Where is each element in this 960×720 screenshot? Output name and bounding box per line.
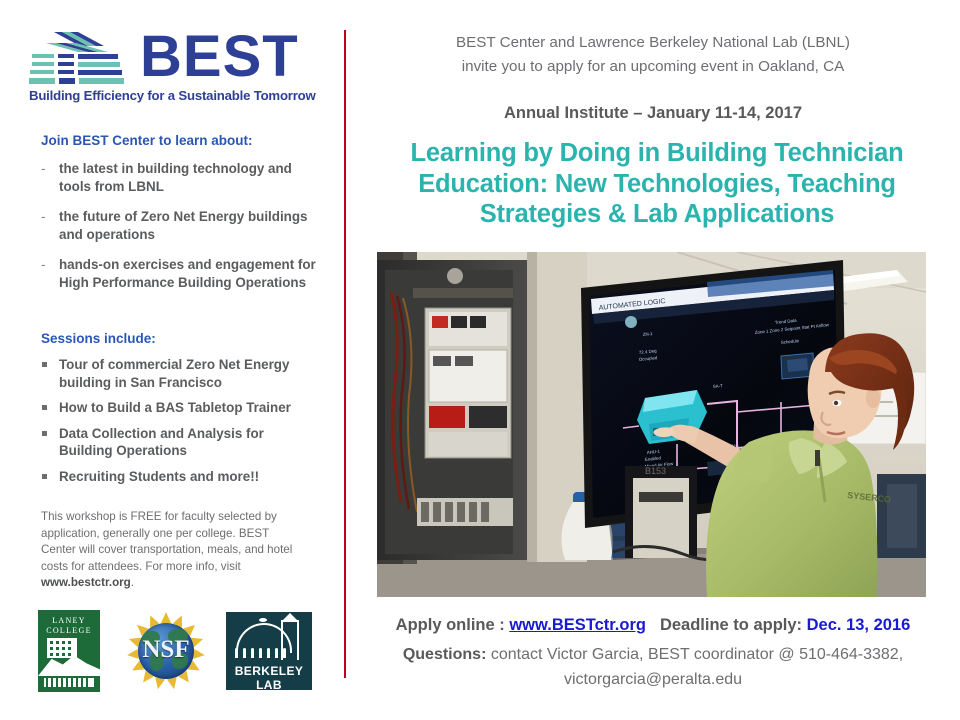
questions-label: Questions: xyxy=(403,646,487,663)
title-line-1: Learning by Doing in Building Technician xyxy=(368,138,946,169)
square-bullet-icon xyxy=(42,431,47,436)
list-item: Tour of commercial Zero Net Energy build… xyxy=(41,356,321,391)
nsf-logo: NSF xyxy=(127,612,205,690)
list-item-label: Tour of commercial Zero Net Energy build… xyxy=(59,357,289,390)
laney-line2: COLLEGE xyxy=(46,626,92,635)
best-tagline: Building Efficiency for a Sustainable To… xyxy=(29,88,316,103)
list-item-label: hands-on exercises and engagement for Hi… xyxy=(59,257,316,290)
fineprint-text: This workshop is FREE for faculty select… xyxy=(41,510,292,573)
sessions-list: Tour of commercial Zero Net Energy build… xyxy=(41,356,321,493)
sessions-heading: Sessions include: xyxy=(41,331,156,346)
photo-illustration: AUTOMATED LOGIC ZN xyxy=(377,252,926,597)
list-item: Recruiting Students and more!! xyxy=(41,468,321,486)
learn-about-list: - the latest in building technology and … xyxy=(41,160,321,304)
list-item-label: Data Collection and Analysis for Buildin… xyxy=(59,426,264,459)
apply-url-link[interactable]: www.BESTctr.org xyxy=(509,616,646,634)
apply-label: Apply online : xyxy=(396,616,510,634)
event-dates: Annual Institute – January 11-14, 2017 xyxy=(346,104,960,123)
berkeley-bars-icon xyxy=(235,648,287,658)
square-bullet-icon xyxy=(42,362,47,367)
list-item: - the future of Zero Net Energy building… xyxy=(41,208,321,243)
laney-line1: LANEY xyxy=(52,616,86,625)
berkeley-knob-icon xyxy=(259,618,267,622)
laney-building-icon xyxy=(47,638,77,658)
fineprint-website: www.bestctr.org xyxy=(41,576,131,589)
berkeley-lab-logo: BERKELEY LAB xyxy=(226,612,312,690)
list-item-label: the future of Zero Net Energy buildings … xyxy=(59,209,307,242)
intro-line-2: invite you to apply for an upcoming even… xyxy=(346,55,960,79)
list-item-label: the latest in building technology and to… xyxy=(59,161,292,194)
berkeley-lab-label: BERKELEY LAB xyxy=(226,664,312,690)
apply-line: Apply online : www.BESTctr.orgDeadline t… xyxy=(346,616,960,635)
intro-paragraph: BEST Center and Lawrence Berkeley Nation… xyxy=(346,31,960,79)
event-photo: AUTOMATED LOGIC ZN xyxy=(377,252,926,597)
svg-text:B153: B153 xyxy=(645,466,666,476)
intro-line-1: BEST Center and Lawrence Berkeley Nation… xyxy=(346,31,960,55)
square-bullet-icon xyxy=(42,474,47,479)
list-item: How to Build a BAS Tabletop Trainer xyxy=(41,399,321,417)
right-column: BEST Center and Lawrence Berkeley Nation… xyxy=(346,0,960,720)
laney-college-logo: LANEY COLLEGE xyxy=(38,610,100,692)
deadline-label: Deadline to apply: xyxy=(660,616,807,634)
partner-logos: LANEY COLLEGE xyxy=(38,610,328,694)
list-item: - hands-on exercises and engagement for … xyxy=(41,256,321,291)
nsf-label: NSF xyxy=(127,636,205,664)
laney-college-label: LANEY COLLEGE xyxy=(38,616,100,635)
best-wordmark: BEST xyxy=(140,26,299,88)
dash-bullet-icon: - xyxy=(41,256,45,274)
deadline-value: Dec. 13, 2016 xyxy=(807,616,911,634)
dash-bullet-icon: - xyxy=(41,208,45,226)
list-item-label: Recruiting Students and more!! xyxy=(59,469,259,484)
square-bullet-icon xyxy=(42,405,47,410)
left-column: BEST Building Efficiency for a Sustainab… xyxy=(0,0,344,720)
title-line-2: Education: New Technologies, Teaching xyxy=(368,169,946,200)
fineprint-period: . xyxy=(131,576,134,589)
list-item: Data Collection and Analysis for Buildin… xyxy=(41,425,321,460)
dash-bullet-icon: - xyxy=(41,160,45,178)
page-title: Learning by Doing in Building Technician… xyxy=(368,138,946,230)
best-center-logo: BEST Building Efficiency for a Sustainab… xyxy=(28,30,318,108)
list-item-label: How to Build a BAS Tabletop Trainer xyxy=(59,400,291,415)
list-item: - the latest in building technology and … xyxy=(41,160,321,195)
questions-text: contact Victor Garcia, BEST coordinator … xyxy=(486,646,903,663)
title-line-3: Strategies & Lab Applications xyxy=(368,199,946,230)
learn-about-heading: Join BEST Center to learn about: xyxy=(41,133,253,148)
questions-line: Questions: contact Victor Garcia, BEST c… xyxy=(346,642,960,692)
best-building-icon xyxy=(28,30,136,86)
fineprint-paragraph: This workshop is FREE for faculty select… xyxy=(41,509,303,592)
laney-steps-icon xyxy=(44,678,94,687)
flyer-page: BEST Building Efficiency for a Sustainab… xyxy=(0,0,960,720)
contact-email[interactable]: victorgarcia@peralta.edu xyxy=(564,671,742,688)
